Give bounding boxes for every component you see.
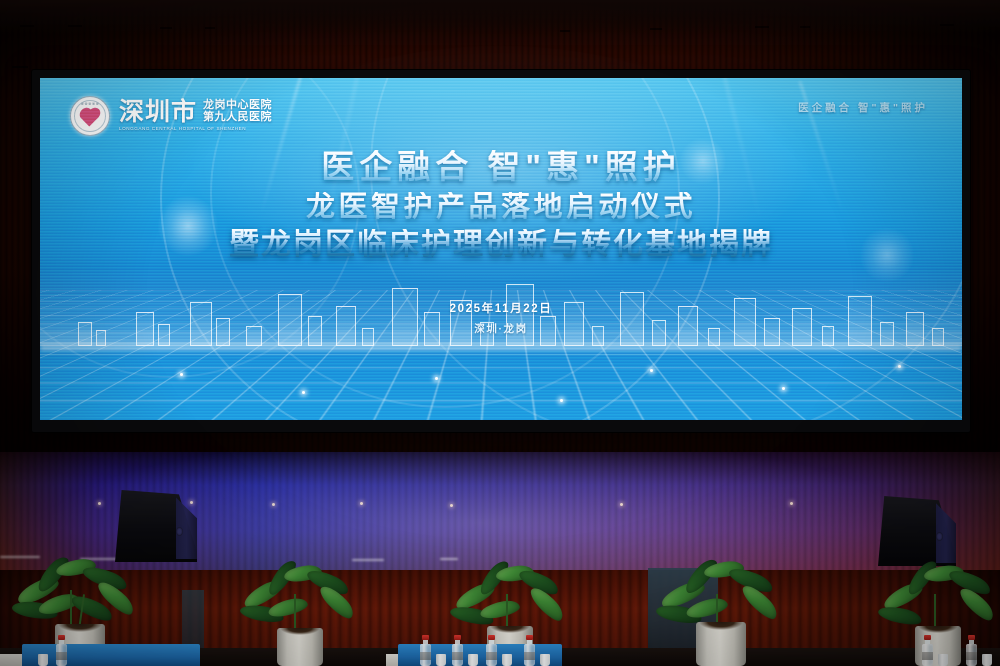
potted-plant-5: [876, 566, 1000, 666]
plant-leaf: [267, 596, 309, 619]
stage-specular-dot: [272, 503, 275, 506]
stage-specular-dot: [450, 504, 453, 507]
wall-seam-mark: [800, 26, 810, 28]
stage-specular-dot: [790, 502, 793, 505]
bottle-cap-icon: [454, 635, 461, 640]
bottle-cap-icon: [488, 635, 495, 640]
bottle-cap-icon: [526, 635, 533, 640]
plant-leaf: [877, 603, 923, 628]
bottle-label: [56, 652, 67, 660]
paper-cup: [468, 654, 478, 666]
bottle-cap-icon: [58, 635, 65, 640]
stage-monitor-speaker-right: [878, 496, 956, 566]
front-table-runner-left: [22, 644, 200, 666]
paper-cup: [938, 654, 948, 666]
wall-seam-mark: [68, 25, 82, 27]
bottle-label: [922, 652, 933, 660]
bottle-cap-icon: [968, 635, 975, 640]
bottle-label: [524, 652, 535, 660]
bottle-cap-icon: [924, 635, 931, 640]
stage-specular-dot: [620, 503, 623, 506]
bottle-label: [486, 652, 497, 660]
bottle-label: [420, 652, 431, 660]
potted-plant-4: [656, 562, 786, 666]
wall-seam-mark: [940, 24, 954, 26]
plant-pot: [277, 628, 323, 666]
plant-leaf: [479, 599, 521, 621]
wall-seam-mark: [20, 25, 34, 27]
stage-floor-reflection: [352, 559, 384, 561]
bottle-label: [966, 652, 977, 660]
potted-plant-2: [238, 566, 362, 666]
plant-stem: [294, 594, 296, 632]
wall-seam-mark: [205, 27, 215, 29]
paper-cup: [436, 654, 446, 666]
led-screen: ※※※※※ 深圳市 龙岗中心医院 第九人民医院 LONGGANG CENTRAL…: [40, 78, 962, 420]
wall-seam-mark: [560, 30, 570, 32]
wall-seam-mark: [755, 26, 769, 28]
stage-specular-dot: [360, 502, 363, 505]
wall-seam-mark: [650, 28, 662, 30]
led-screen-bezel: ※※※※※ 深圳市 龙岗中心医院 第九人民医院 LONGGANG CENTRAL…: [32, 70, 970, 432]
wall-seam-mark: [12, 66, 28, 68]
led-scanline-overlay: [40, 78, 962, 420]
bottle-label: [452, 652, 463, 660]
stage-specular-dot: [98, 502, 101, 505]
paper-cup: [540, 654, 550, 666]
plant-pot: [696, 622, 746, 666]
paper-cup: [502, 654, 512, 666]
stage-floor-reflection: [0, 556, 40, 558]
stage-monitor-speaker-left: [115, 490, 197, 562]
bottle-cap-icon: [422, 635, 429, 640]
wall-seam-mark: [160, 27, 172, 29]
paper-cup: [982, 654, 992, 666]
conference-hall-photo: ※※※※※ 深圳市 龙岗中心医院 第九人民医院 LONGGANG CENTRAL…: [0, 0, 1000, 666]
ceiling-shadow: [0, 0, 1000, 34]
stage-floor-reflection: [440, 558, 458, 560]
paper-cup: [38, 654, 48, 666]
